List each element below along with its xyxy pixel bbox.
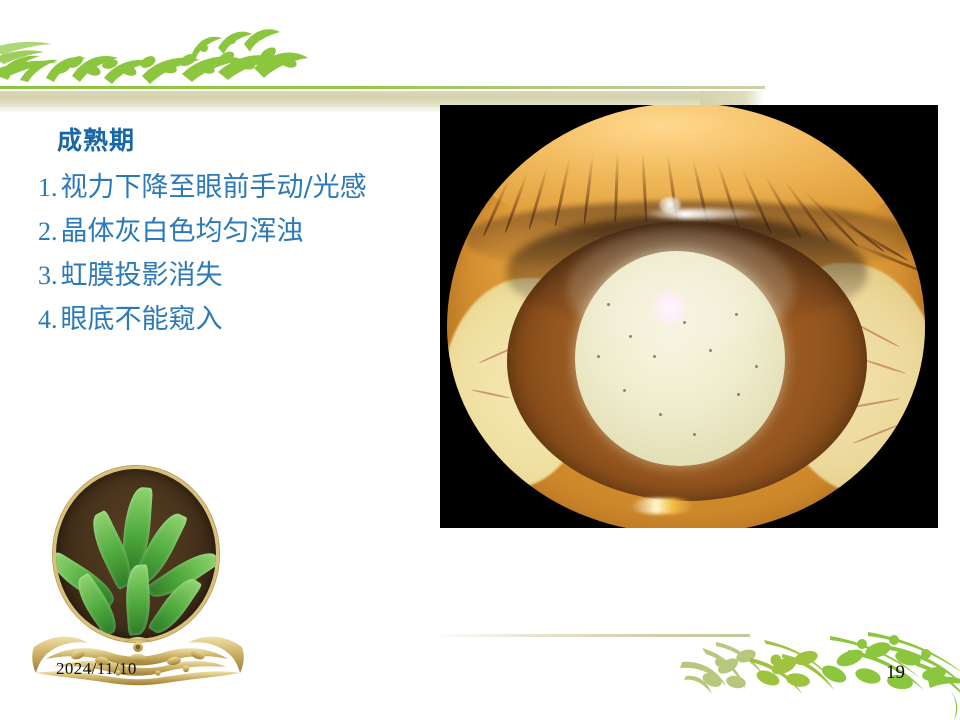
lens-speck xyxy=(735,313,738,316)
green-lily-plant-emblem xyxy=(53,466,219,642)
eye-globe xyxy=(447,105,925,528)
list-item-text: 眼底不能窥入 xyxy=(61,304,223,335)
list-item: 2.晶体灰白色均匀浑浊 xyxy=(38,210,468,254)
lower-lid-light-reflex xyxy=(632,498,692,514)
lens-speck xyxy=(623,389,626,392)
lens-speck xyxy=(629,335,632,338)
lens-haze xyxy=(567,228,795,348)
lens-speck xyxy=(693,433,696,436)
lens-speck xyxy=(755,365,758,368)
corneal-light-streak xyxy=(642,209,762,219)
list-item: 4.眼底不能窥入 xyxy=(38,298,468,342)
emblem-circle-frame xyxy=(53,466,219,642)
slide-date: 2024/11/10 xyxy=(56,659,137,679)
list-item-text: 虹膜投影消失 xyxy=(61,260,223,291)
lens-speck xyxy=(737,393,740,396)
lens-speck xyxy=(659,413,662,416)
slide-title: 成熟期 xyxy=(57,126,135,156)
lens-speck xyxy=(597,355,600,358)
list-item-number: 3. xyxy=(38,261,61,290)
bottom-floral-flourish-icon xyxy=(672,628,960,720)
list-item: 3.虹膜投影消失 xyxy=(38,254,468,298)
content-bullet-list: 1.视力下降至眼前手动/光感 2.晶体灰白色均匀浑浊 3.虹膜投影消失 4.眼底… xyxy=(38,166,468,342)
lens-speck xyxy=(653,355,656,358)
lens-speck xyxy=(683,321,686,324)
list-item-number: 2. xyxy=(38,217,61,246)
slide-page-number: 19 xyxy=(886,662,905,684)
lens-light-reflex xyxy=(652,291,686,325)
presentation-slide: 成熟期 1.视力下降至眼前手动/光感 2.晶体灰白色均匀浑浊 3.虹膜投影消失 … xyxy=(0,0,960,720)
slide-header-decoration xyxy=(0,0,960,112)
top-floral-flourish-icon xyxy=(0,18,322,90)
list-item-text: 晶体灰白色均匀浑浊 xyxy=(61,216,304,247)
list-item-text: 视力下降至眼前手动/光感 xyxy=(61,172,367,203)
lens-speck xyxy=(709,349,712,352)
mature-cataract-eye-photo xyxy=(440,105,938,528)
list-item-number: 4. xyxy=(38,305,61,334)
list-item: 1.视力下降至眼前手动/光感 xyxy=(38,166,468,210)
corneal-light-reflex xyxy=(659,197,681,213)
lens-speck xyxy=(607,303,610,306)
list-item-number: 1. xyxy=(38,173,61,202)
